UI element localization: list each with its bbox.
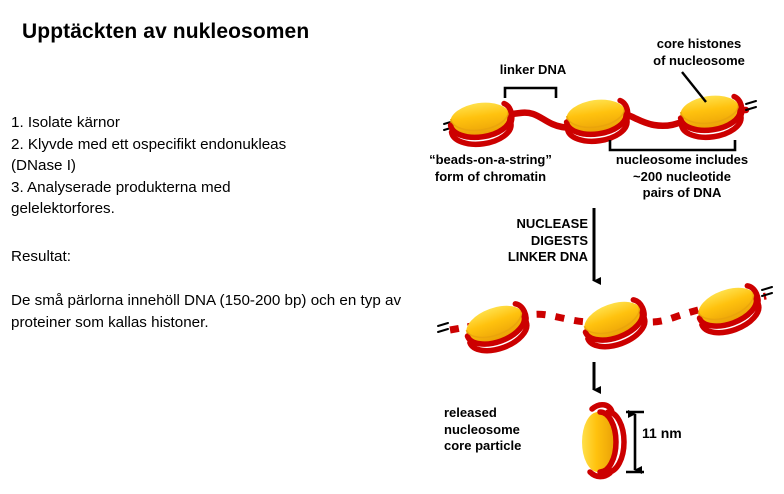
linker-dna-bracket — [505, 88, 556, 98]
result-text: De små pärlorna innehöll DNA (150-200 bp… — [11, 290, 411, 333]
nucleosome-bead — [678, 92, 745, 141]
label-linker-dna: linker DNA — [478, 62, 588, 79]
dna-fray-right-row1 — [746, 101, 756, 110]
label-11-nm-dimension: 11 nm — [642, 425, 702, 442]
procedure-list: 1. Isolate kärnor 2. Klyvde med ett ospe… — [11, 112, 401, 220]
label-nucleosome-includes: nucleosome includes ~200 nucleotide pair… — [582, 152, 782, 202]
dna-fray-right-row2 — [762, 287, 772, 296]
released-core-particle — [582, 405, 624, 477]
nucleosome-bead — [693, 280, 765, 340]
nucleosome-span-bracket — [610, 140, 735, 150]
label-nuclease-digests-linker-dna: NUCLEASE DIGESTS LINKER DNA — [462, 216, 588, 266]
procedure-step-3: 3. Analyserade produkterna med gelelekto… — [11, 177, 401, 220]
label-beads-on-a-string: “beads-on-a-string” form of chromatin — [398, 152, 583, 185]
dna-fray-left-row2 — [438, 323, 448, 332]
chromatin-row-1 — [444, 92, 756, 148]
nucleosome-bead — [579, 294, 651, 354]
nucleosome-bead — [448, 99, 515, 148]
digested-linker-dna-mid1 — [518, 314, 592, 322]
label-released-core-particle: released nucleosome core particle — [444, 405, 576, 455]
procedure-step-2: 2. Klyvde med ett ospecifikt endonukleas… — [11, 134, 401, 177]
slide-canvas: Upptäckten av nukleosomen 1. Isolate kär… — [0, 0, 784, 494]
result-heading: Resultat: — [11, 246, 71, 268]
procedure-step-1: 1. Isolate kärnor — [11, 112, 401, 134]
label-core-histones: core histones of nucleosome — [615, 36, 783, 69]
nucleosome-diagram: linker DNA core histones of nucleosome “… — [410, 0, 784, 494]
page-title: Upptäckten av nukleosomen — [22, 20, 309, 44]
nucleosome-bead — [461, 298, 533, 358]
core-histones-leader-line — [682, 72, 706, 102]
chromatin-row-2 — [438, 280, 772, 358]
nucleosome-bead — [564, 96, 631, 145]
